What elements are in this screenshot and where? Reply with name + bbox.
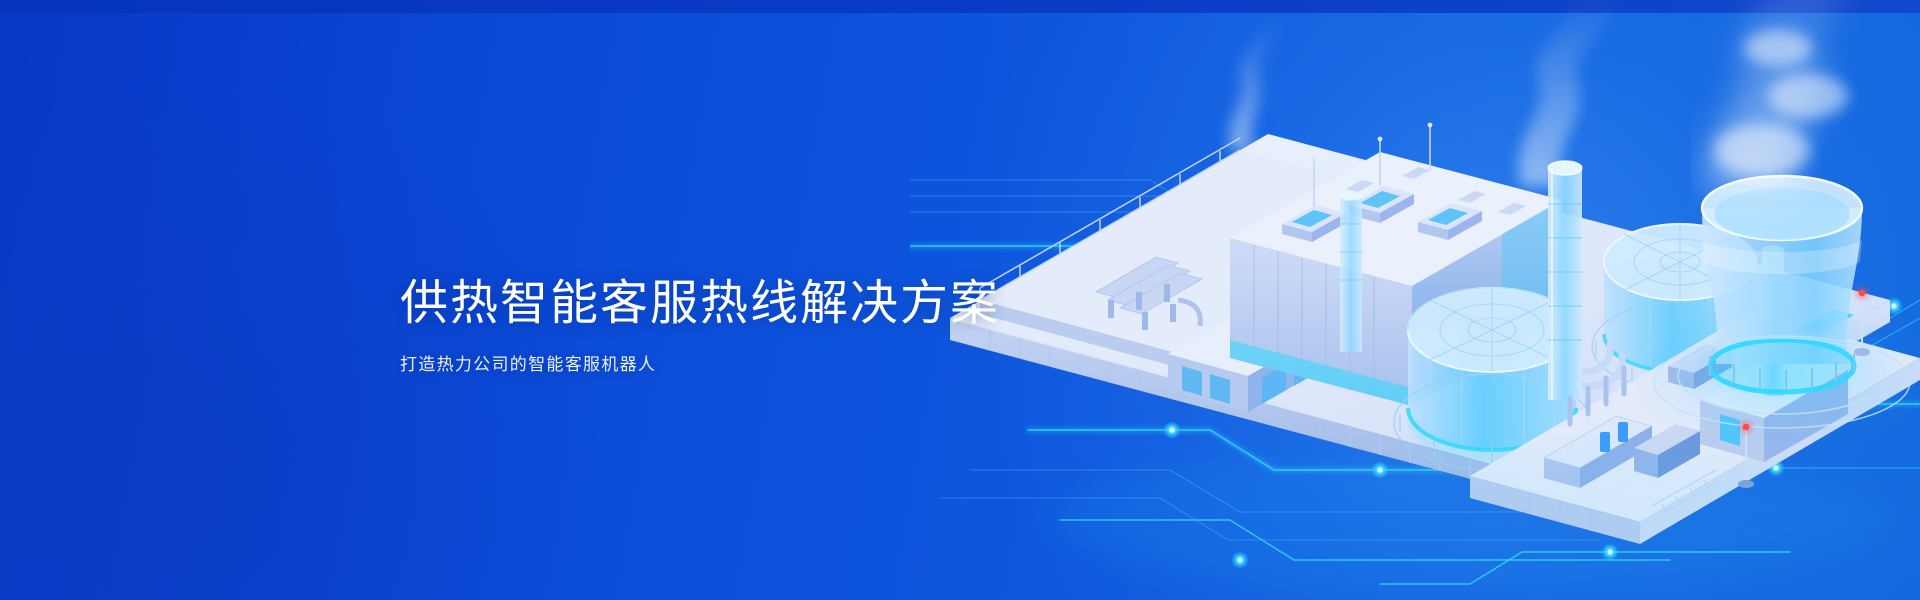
hero-banner: 供热智能客服热线解决方案 打造热力公司的智能客服机器人 xyxy=(0,0,1920,600)
smokestack-mid xyxy=(1340,191,1362,352)
steam-plume xyxy=(1230,0,1616,300)
connector-pipe xyxy=(1574,344,1622,386)
cooling-tower-steam xyxy=(1708,0,1876,192)
control-building xyxy=(1168,300,1342,412)
stair xyxy=(1652,470,1722,516)
storage-tank-back xyxy=(1592,224,1768,392)
smokestack-tall xyxy=(1548,161,1582,400)
boiler-building xyxy=(1230,123,1562,406)
cooling-tower xyxy=(1652,176,1912,430)
top-accent-bar xyxy=(0,0,1920,13)
page-title: 供热智能客服热线解决方案 xyxy=(400,276,1160,332)
storage-tank-front xyxy=(1394,288,1590,470)
utility-building xyxy=(1668,245,1868,462)
light-pole xyxy=(1738,286,1870,488)
machinery-unit xyxy=(1544,368,1700,488)
page-subtitle: 打造热力公司的智能客服机器人 xyxy=(400,352,1160,378)
platform-right xyxy=(1470,312,1920,544)
circuit-traces xyxy=(910,180,1920,584)
hero-copy: 供热智能客服热线解决方案 打造热力公司的智能客服机器人 xyxy=(400,276,1160,377)
circuit-nodes xyxy=(1097,237,1903,569)
